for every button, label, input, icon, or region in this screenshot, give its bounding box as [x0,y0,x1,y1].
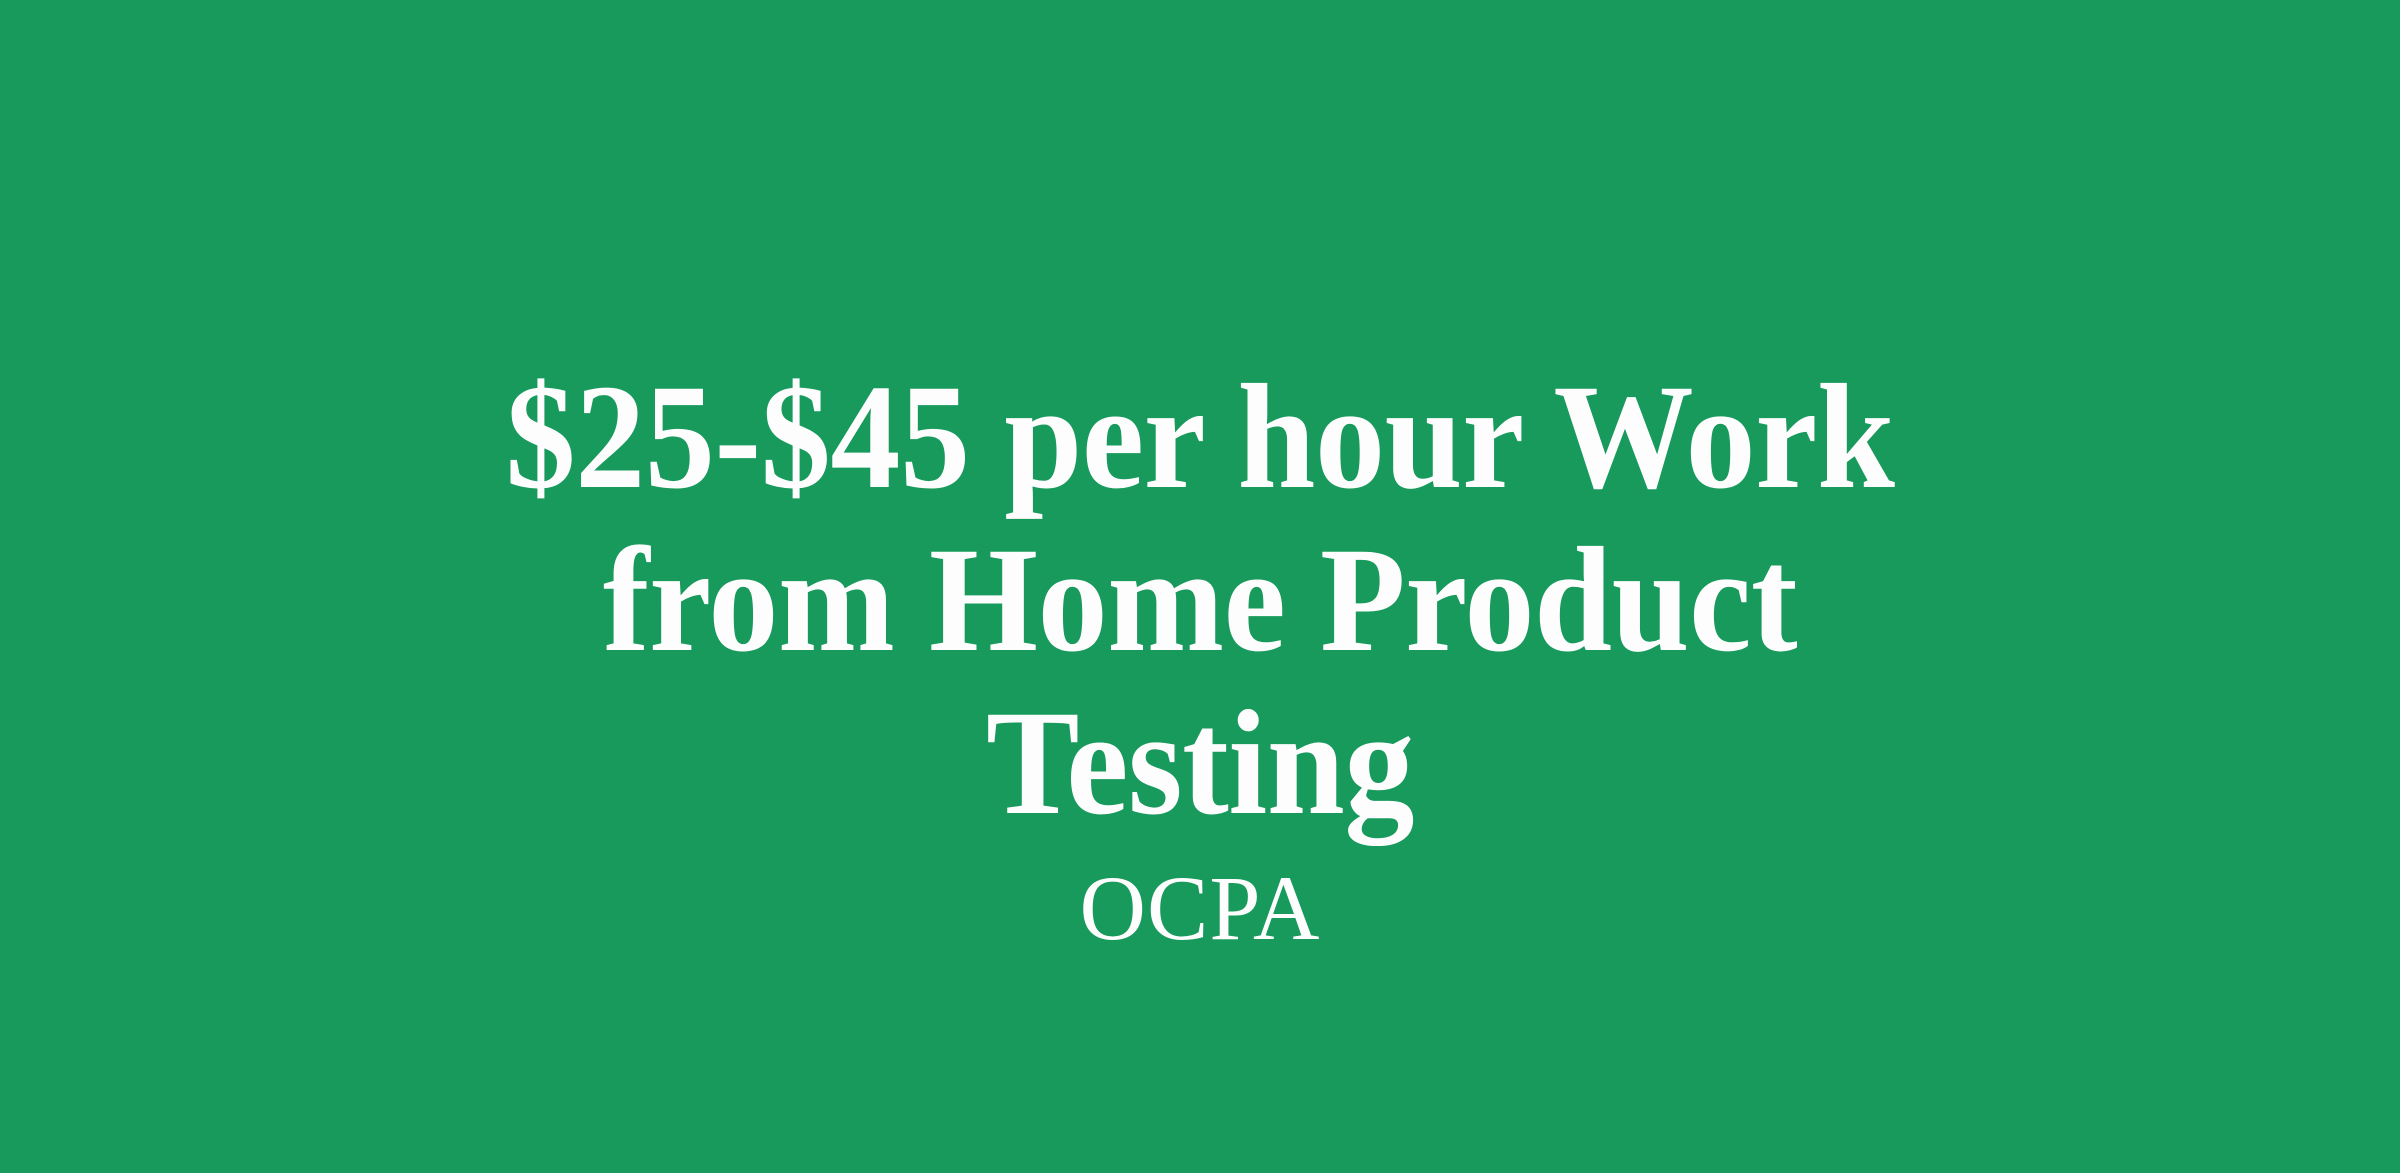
share-card: $25-$45 per hour Work from Home Product … [0,0,2400,1173]
card-content: $25-$45 per hour Work from Home Product … [0,356,2400,957]
card-subtitle: OCPA [1080,859,1321,957]
page-title: $25-$45 per hour Work from Home Product … [396,356,2004,845]
